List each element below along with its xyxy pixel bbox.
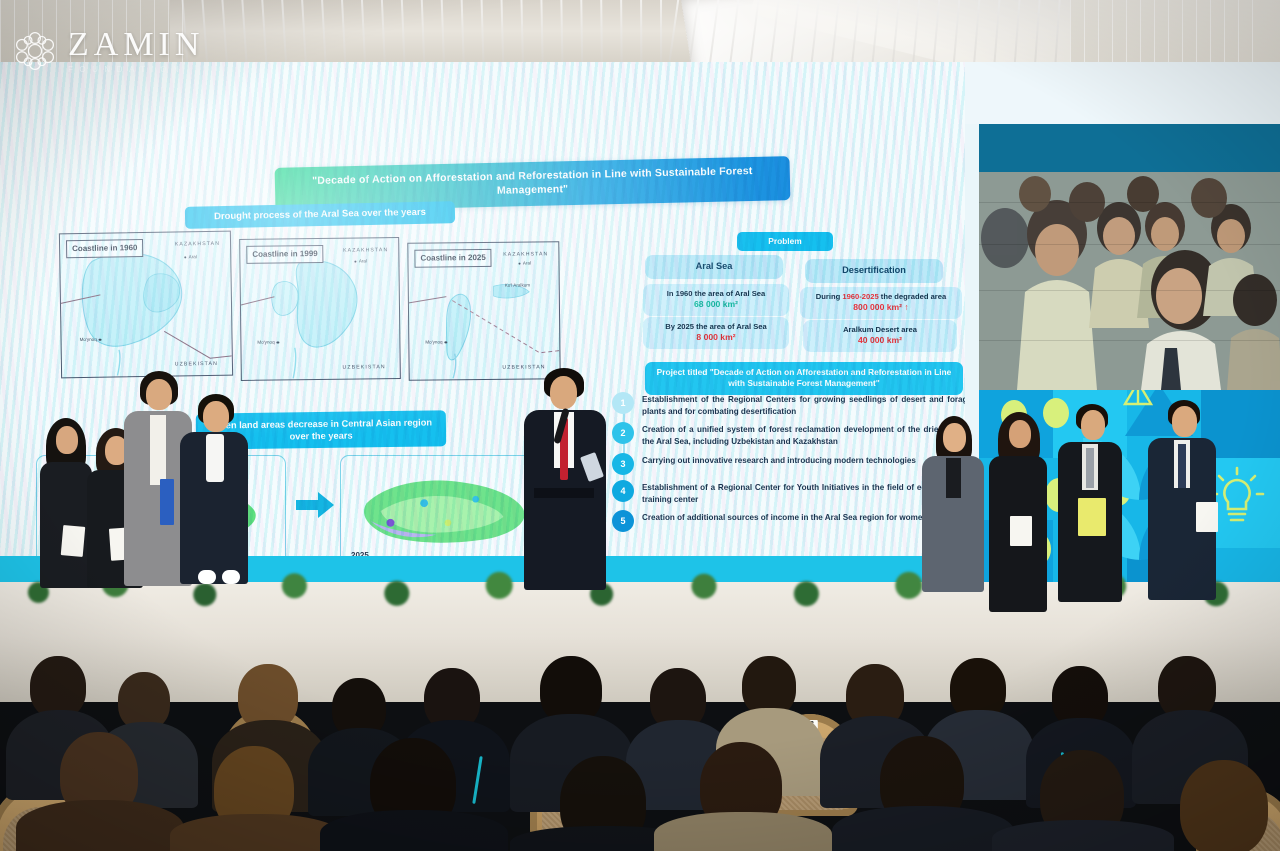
place-label-moynoq: Mo'ynoq: [80, 337, 102, 342]
project-step: 2 Creation of a unified system of forest…: [612, 422, 972, 447]
coastline-caption: Coastline in 1999: [246, 245, 324, 264]
place-label-aral: Aral: [518, 261, 531, 266]
stat-value: 8 000 km²: [647, 332, 785, 344]
right-arrow-icon: [296, 490, 334, 520]
stat-text: Aralkum Desert area: [807, 325, 953, 335]
yellow-folder: [1078, 498, 1106, 536]
coastline-caption: Coastline in 1960: [66, 239, 144, 258]
step-number: 3: [612, 453, 634, 475]
zamin-wordmark: ZAMIN FOUNDATION: [68, 28, 204, 74]
stat-value: 68 000 km²: [647, 299, 785, 311]
coastline-caption: Coastline in 2025: [414, 249, 492, 268]
project-steps-list: 1 Establishment of the Regional Centers …: [612, 392, 972, 537]
audience-area: 12 24 23 26 35: [0, 560, 1280, 851]
project-step: 1 Establishment of the Regional Centers …: [612, 392, 972, 417]
stat-aral-1960: In 1960 the area of Aral Sea 68 000 km²: [643, 284, 789, 316]
step-number: 2: [612, 422, 634, 444]
stat-text: By 2025 the area of Aral Sea: [647, 322, 785, 332]
place-label-moynoq: Mo'ynoq: [425, 339, 447, 344]
coastline-card-2025: Coastline in 2025 KAZAKHSTAN UZBEKISTAN …: [407, 241, 560, 381]
green-land-map-2025: 2025: [340, 455, 540, 567]
step-number: 4: [612, 480, 634, 502]
audience-camera-feed: [979, 172, 1280, 390]
stat-text: During 1960-2025 the degraded area: [804, 292, 958, 302]
stat-value: 40 000 km²: [807, 335, 953, 347]
place-label-aralkum: Ko'l Aralkum: [505, 283, 530, 288]
project-heading: Project titled "Decade of Action on Affo…: [645, 362, 963, 395]
step-number: 1: [612, 392, 634, 414]
project-step: 3 Carrying out innovative research and i…: [612, 453, 972, 475]
country-label-kazakhstan: KAZAKHSTAN: [503, 251, 548, 257]
place-label-moynoq: Mo'ynoq: [257, 340, 279, 345]
stat-value: 800 000 km² ↑: [804, 302, 958, 314]
step-text: Establishment of the Regional Centers fo…: [642, 392, 972, 417]
step-number: 5: [612, 510, 634, 532]
zamin-floral-emblem-icon: [12, 28, 58, 74]
stat-aralkum-desert: Aralkum Desert area 40 000 km²: [803, 320, 957, 352]
brand-name: ZAMIN: [68, 28, 204, 62]
problem-column-title-aral-sea: Aral Sea: [645, 255, 783, 279]
zamin-logo: ZAMIN FOUNDATION: [12, 22, 232, 80]
project-step: 4 Establishment of a Regional Center for…: [612, 480, 972, 505]
country-label-kazakhstan: KAZAKHSTAN: [343, 247, 388, 254]
problem-column-title-desertification: Desertification: [805, 259, 943, 283]
brand-subtitle: FOUNDATION: [68, 66, 204, 74]
stat-text: In 1960 the area of Aral Sea: [647, 289, 785, 299]
conference-photo-scene: ZAMIN FOUNDATION "Decade of Action on Af…: [0, 0, 1280, 851]
coastline-card-1960: Coastline in 1960 KAZAKHSTAN UZBEKISTAN …: [59, 231, 233, 379]
stat-aral-2025: By 2025 the area of Aral Sea 8 000 km²: [643, 317, 789, 349]
country-label-uzbekistan: UZBEKISTAN: [175, 361, 218, 368]
place-label-aral: Aral: [184, 254, 197, 259]
drought-section-label: Drought process of the Aral Sea over the…: [185, 201, 455, 229]
stage-presenter: [522, 368, 608, 590]
stat-degraded-area: During 1960-2025 the degraded area 800 0…: [800, 287, 962, 319]
project-step: 5 Creation of additional sources of inco…: [612, 510, 972, 532]
stat-highlight-years: 1960-2025: [842, 292, 878, 301]
country-label-uzbekistan: UZBEKISTAN: [342, 364, 385, 371]
coastline-card-1999: Coastline in 1999 KAZAKHSTAN UZBEKISTAN …: [239, 237, 401, 381]
country-label-kazakhstan: KAZAKHSTAN: [175, 241, 220, 248]
place-label-aral: Aral: [354, 258, 367, 263]
problem-heading: Problem: [737, 232, 833, 251]
